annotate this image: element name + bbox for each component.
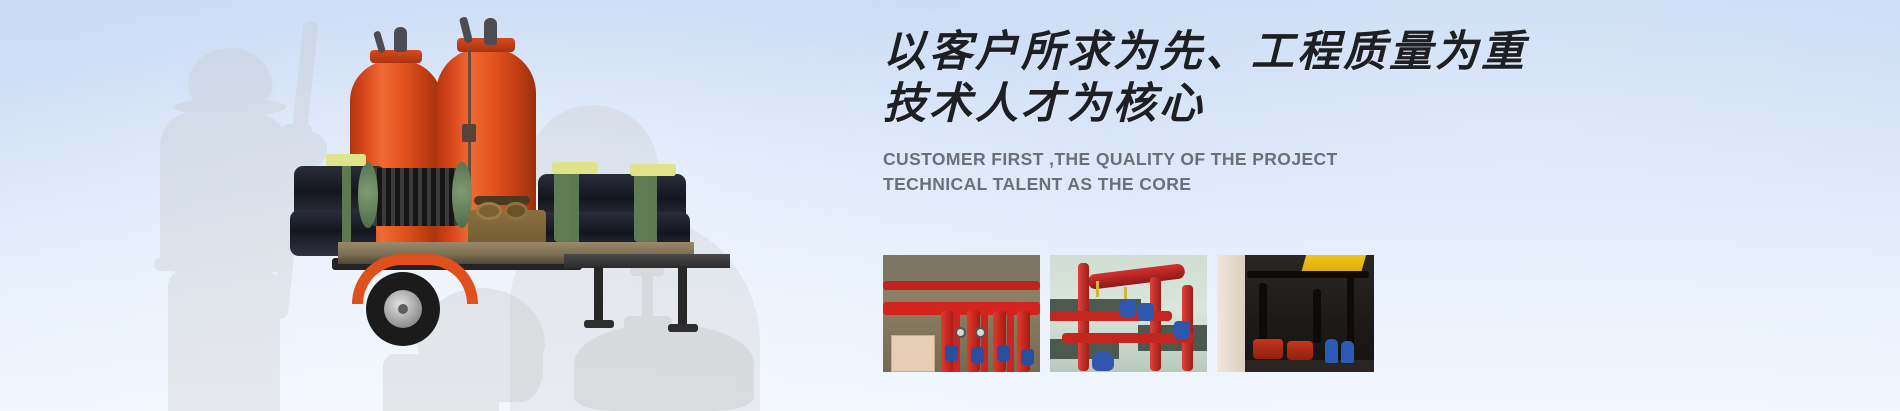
jack-leg	[678, 266, 687, 328]
pressure-gauge	[975, 327, 986, 338]
hub-bolt	[398, 304, 408, 314]
pipe-drop	[1007, 313, 1014, 372]
manifold-handwheel	[504, 202, 528, 220]
gate-valve	[1021, 349, 1034, 365]
handwheel-valve	[1092, 351, 1114, 371]
fire-pump	[1253, 339, 1283, 359]
trailer-rear-deck	[564, 254, 730, 268]
fire-pump	[1287, 341, 1313, 360]
pipe-drop	[1313, 289, 1321, 343]
helmet-shape	[188, 48, 272, 110]
hose-reel	[356, 166, 474, 228]
shoulder-pad-shape	[383, 354, 499, 411]
hose-clamp-cap	[630, 164, 676, 176]
reel-flange	[358, 162, 378, 228]
legs-shape	[168, 270, 280, 411]
pipe-drop	[981, 313, 988, 372]
jack-leg	[594, 266, 603, 324]
door-shape	[891, 335, 935, 372]
hose-clamp-cap	[552, 162, 598, 174]
helmet-brim-shape	[174, 98, 286, 116]
tank-valve-icon	[484, 18, 497, 45]
ceiling-band	[883, 255, 1040, 281]
thumbnail-strip	[883, 255, 1374, 372]
nozzle-shape	[282, 124, 312, 154]
headline-chinese: 以客户所求为先、工程质量为重 技术人才为核心	[883, 26, 1583, 131]
pipe-hanger	[1096, 281, 1099, 297]
face-shape	[491, 326, 543, 402]
sight-gauge-box	[462, 124, 476, 142]
hero-banner: 以客户所求为先、工程质量为重 技术人才为核心 CUSTOMER FIRST ,T…	[0, 0, 1900, 411]
reel-drum	[368, 168, 460, 226]
chin-strap-shape	[436, 338, 535, 370]
butterfly-valve	[1120, 299, 1136, 317]
blue-tank	[1325, 339, 1338, 363]
pipe-drop	[1347, 277, 1354, 349]
belt-shape	[154, 258, 278, 271]
subhead-english: CUSTOMER FIRST ,THE QUALITY OF THE PROJE…	[883, 147, 1583, 197]
manifold-handwheel	[476, 202, 502, 220]
pipe-riser	[993, 311, 1006, 372]
valve-body-shape	[574, 324, 754, 411]
banner-copy: 以客户所求为先、工程质量为重 技术人才为核心 CUSTOMER FIRST ,T…	[883, 26, 1583, 197]
blue-tank	[1341, 341, 1354, 363]
tank-valve-icon	[394, 27, 407, 52]
leg-split-shape	[220, 306, 229, 411]
pipe-drop	[953, 313, 960, 372]
hose-strap	[342, 156, 351, 248]
thumbnail-pump-room[interactable]	[1217, 255, 1374, 372]
butterfly-valve	[1174, 321, 1190, 339]
jack-foot	[584, 320, 614, 328]
gate-valve	[971, 347, 984, 363]
gate-valve	[945, 345, 958, 361]
torso-shape	[160, 112, 292, 272]
valve-boss-shape	[692, 360, 738, 386]
butterfly-valve	[1138, 303, 1154, 321]
hose-clamp-cap	[326, 154, 366, 166]
horizontal-pipe	[883, 281, 1040, 290]
gate-valve	[997, 345, 1010, 361]
thumbnail-red-pipe-risers[interactable]	[1050, 255, 1207, 372]
pressure-gauge	[955, 327, 966, 338]
thumbnail-sprinkler-manifold-room[interactable]	[883, 255, 1040, 372]
floor-band	[1245, 360, 1374, 372]
jack-foot	[668, 324, 698, 332]
main-fire-pipe	[1087, 263, 1185, 290]
product-photo-trailer-foam-unit	[318, 14, 730, 324]
pipe-drop	[1150, 277, 1161, 371]
pipe-drop	[1259, 283, 1267, 343]
wall-column	[1217, 255, 1245, 372]
